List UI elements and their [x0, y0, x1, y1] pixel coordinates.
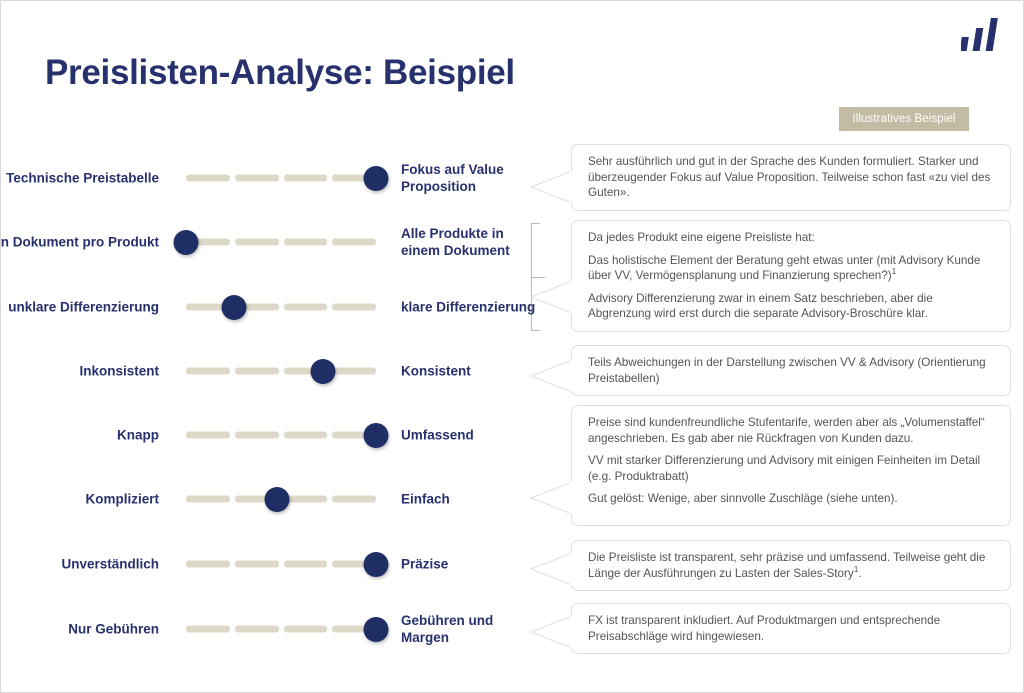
row-label-left: Unverständlich [0, 556, 159, 573]
row-label-left: Technische Preistabelle [0, 170, 159, 187]
callout-produkte-differenzierung: Da jedes Produkt eine eigene Preisliste … [571, 220, 1011, 332]
row-label-right: Alle Produkte in einem Dokument [401, 225, 541, 259]
bar-chart-logo-icon [961, 17, 1007, 51]
slider-track-segment [186, 626, 230, 633]
slider-track-segment [284, 175, 328, 182]
slider-handle[interactable] [364, 552, 389, 577]
slider-handle[interactable] [174, 230, 199, 255]
slider-handle[interactable] [310, 359, 335, 384]
slider-track-segment [332, 304, 376, 311]
row-label-right: Einfach [401, 491, 541, 508]
callout-paragraph: Das holistische Element der Beratung geh… [588, 253, 996, 284]
slider-track-segment [284, 561, 328, 568]
row-label-left: Knapp [0, 427, 159, 444]
callout-paragraph: Da jedes Produkt eine eigene Preisliste … [588, 230, 996, 246]
row-label-left: unklare Differenzierung [0, 299, 159, 316]
row-label-right: klare Differenzierung [401, 299, 541, 316]
slider-track-segment [332, 368, 376, 375]
callout-paragraph: FX ist transparent inkludiert. Auf Produ… [588, 613, 996, 644]
slider-track-segment [186, 432, 230, 439]
callout-gebuehren: FX ist transparent inkludiert. Auf Produ… [571, 603, 1011, 654]
slider-track-segment [284, 626, 328, 633]
slider-track-segment [235, 561, 279, 568]
slider-track-segment [235, 239, 279, 246]
rating-slider[interactable] [186, 496, 376, 503]
callout-paragraph: VV mit starker Differenzierung und Advis… [588, 453, 996, 484]
rating-slider[interactable] [186, 368, 376, 375]
slider-track-segment [332, 496, 376, 503]
row-label-right: Fokus auf Value Proposition [401, 161, 541, 195]
callout-konsistenz: Teils Abweichungen in der Darstellung zw… [571, 345, 1011, 396]
rating-slider[interactable] [186, 432, 376, 439]
row-label-right: Umfassend [401, 427, 541, 444]
rating-slider[interactable] [186, 239, 376, 246]
callout-umfassend-einfach: Preise sind kundenfreundliche Stufentari… [571, 405, 1011, 526]
slider-track-segment [235, 626, 279, 633]
slider-handle[interactable] [364, 166, 389, 191]
slider-track-segment [284, 432, 328, 439]
row-label-right: Präzise [401, 556, 541, 573]
callout-paragraph: Gut gelöst: Wenige, aber sinnvolle Zusch… [588, 491, 996, 507]
status-badge: Illustratives Beispiel [839, 107, 969, 131]
slider-track-segment [284, 304, 328, 311]
slider-track-segment [186, 561, 230, 568]
footnote-marker: 1 [854, 564, 859, 574]
slider-handle[interactable] [364, 423, 389, 448]
row-label-left: Nur Gebühren [0, 621, 159, 638]
slider-track-segment [284, 239, 328, 246]
callout-paragraph: Preise sind kundenfreundliche Stufentari… [588, 415, 996, 446]
slider-track-segment [284, 496, 328, 503]
slider-track-segment [186, 368, 230, 375]
row-label-left: Kompliziert [0, 491, 159, 508]
callout-praezise: Die Preisliste ist transparent, sehr prä… [571, 540, 1011, 591]
page-title: Preislisten-Analyse: Beispiel [45, 53, 515, 93]
slider-handle[interactable] [364, 617, 389, 642]
rating-slider[interactable] [186, 175, 376, 182]
slide-canvas: Preislisten-Analyse: Beispiel Illustrati… [0, 0, 1024, 693]
slider-handle[interactable] [221, 295, 246, 320]
callout-paragraph: Sehr ausführlich und gut in der Sprache … [588, 154, 996, 201]
callout-paragraph: Teils Abweichungen in der Darstellung zw… [588, 355, 996, 386]
footnote-marker: 1 [892, 266, 897, 276]
row-label-left: Ein Dokument pro Produkt [0, 234, 159, 251]
rating-slider[interactable] [186, 561, 376, 568]
slider-track-segment [186, 175, 230, 182]
slider-track-segment [332, 239, 376, 246]
slider-track-segment [235, 432, 279, 439]
callout-paragraph: Die Preisliste ist transparent, sehr prä… [588, 550, 996, 581]
rating-slider[interactable] [186, 304, 376, 311]
row-label-left: Inkonsistent [0, 363, 159, 380]
slider-track-segment [235, 175, 279, 182]
slider-handle[interactable] [265, 487, 290, 512]
callout-value-proposition: Sehr ausführlich und gut in der Sprache … [571, 144, 1011, 211]
row-label-right: Konsistent [401, 363, 541, 380]
slider-track-segment [235, 368, 279, 375]
row-label-right: Gebühren und Margen [401, 612, 541, 646]
rating-slider[interactable] [186, 626, 376, 633]
slider-track-segment [186, 496, 230, 503]
callout-paragraph: Advisory Differenzierung zwar in einem S… [588, 291, 996, 322]
